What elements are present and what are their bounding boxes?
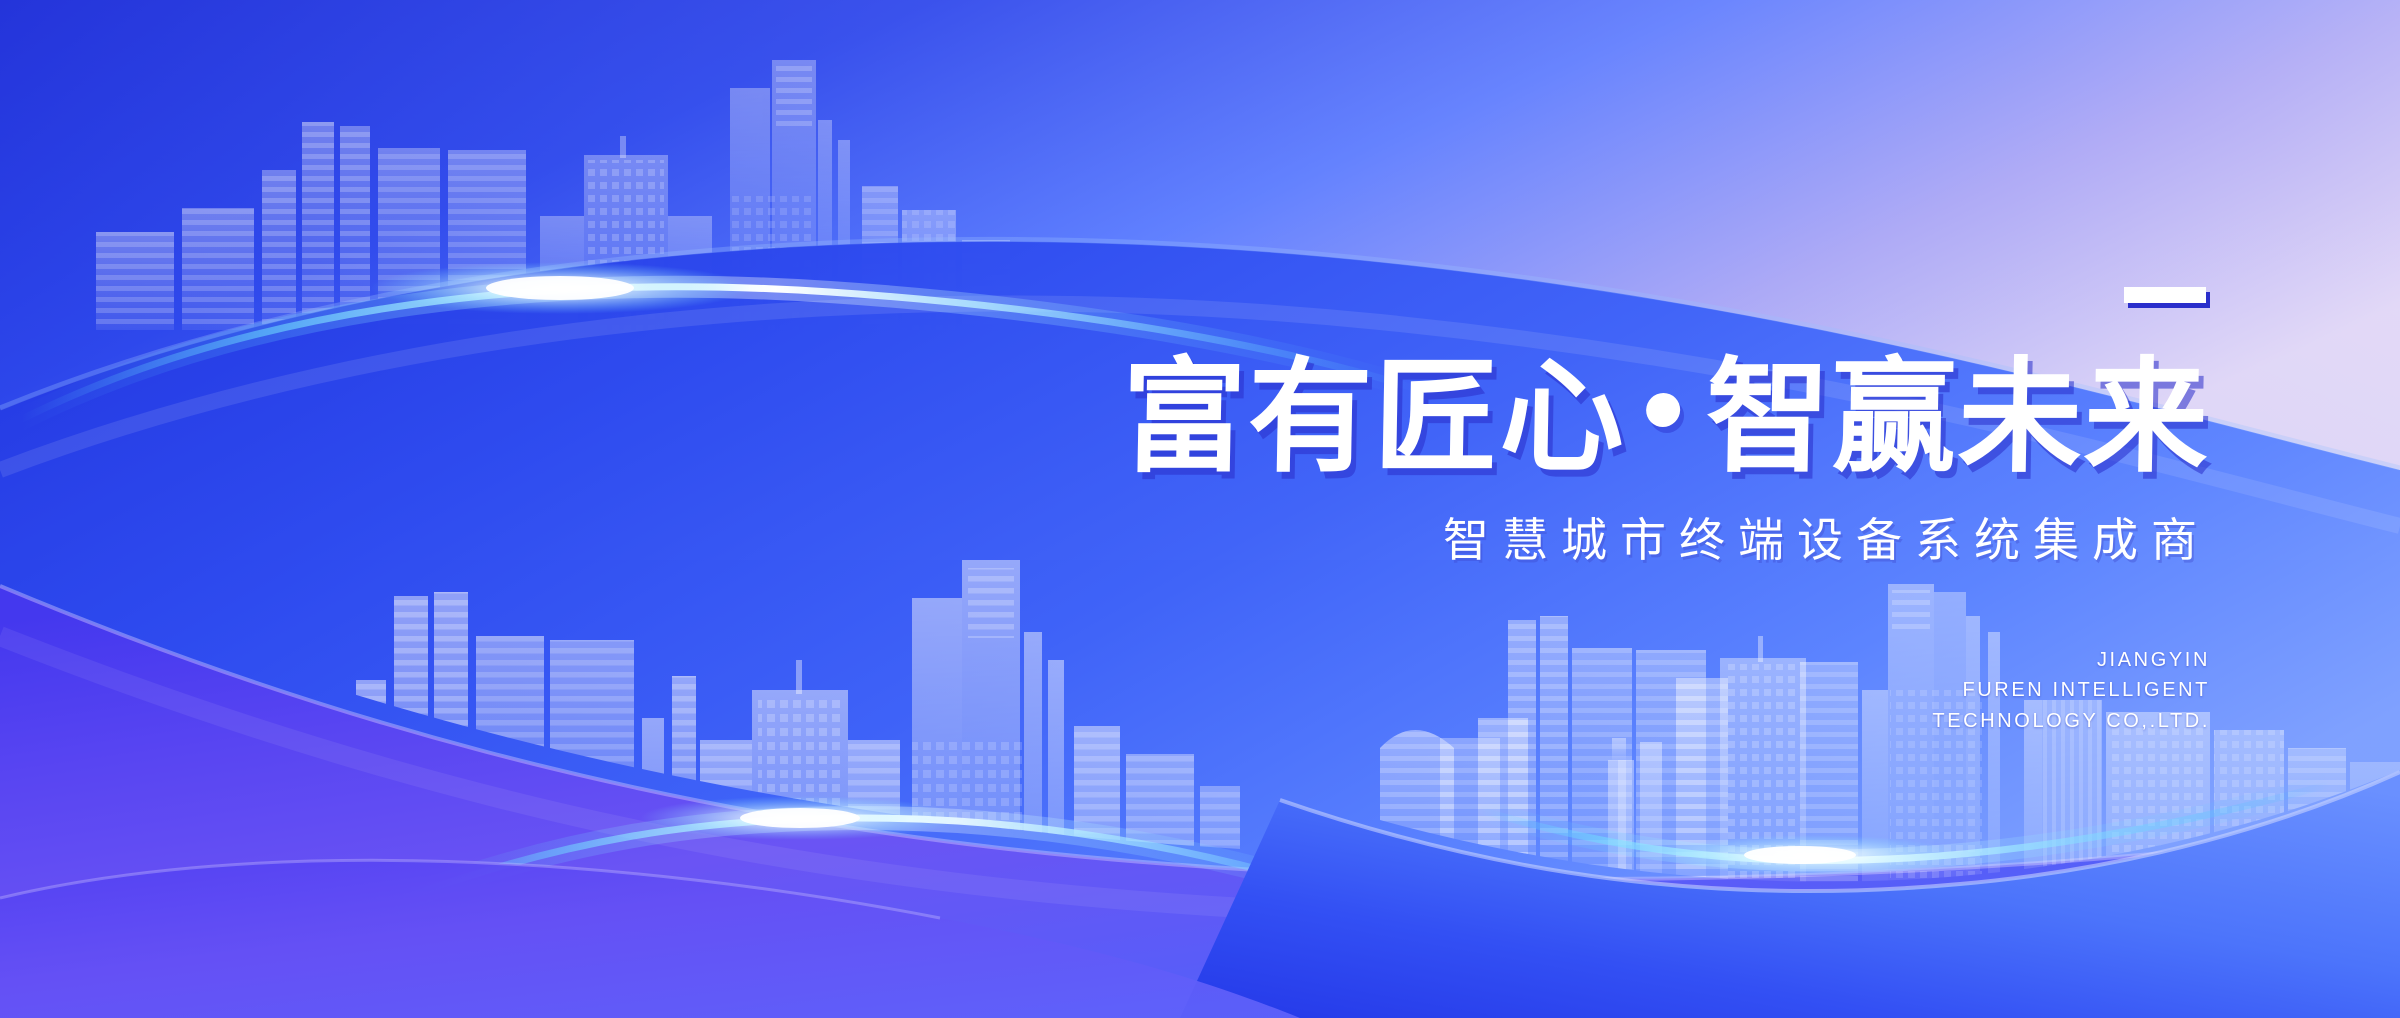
- banner-canvas: 富有匠心 智赢未来 智慧城市终端设备系统集成商 JIANGYIN FUREN I…: [0, 0, 2400, 1018]
- page-subtitle: 智慧城市终端设备系统集成商: [1200, 515, 2210, 566]
- separator-dot-icon: [1646, 393, 1681, 427]
- dash-decoration: [2124, 287, 2206, 303]
- title-right: 智赢未来: [1705, 356, 2211, 480]
- company-name-en: JIANGYIN FUREN INTELLIGENT TECHNOLOGY CO…: [1932, 645, 2210, 736]
- title-left: 富有匠心: [1121, 356, 1627, 480]
- company-line-1: JIANGYIN: [1932, 645, 2210, 675]
- page-title: 富有匠心 智赢未来: [1059, 348, 2211, 488]
- company-line-2: FUREN INTELLIGENT: [1932, 675, 2210, 705]
- company-line-3: TECHNOLOGY CO,.LTD.: [1932, 706, 2210, 736]
- wave-foreground: [0, 0, 2400, 1018]
